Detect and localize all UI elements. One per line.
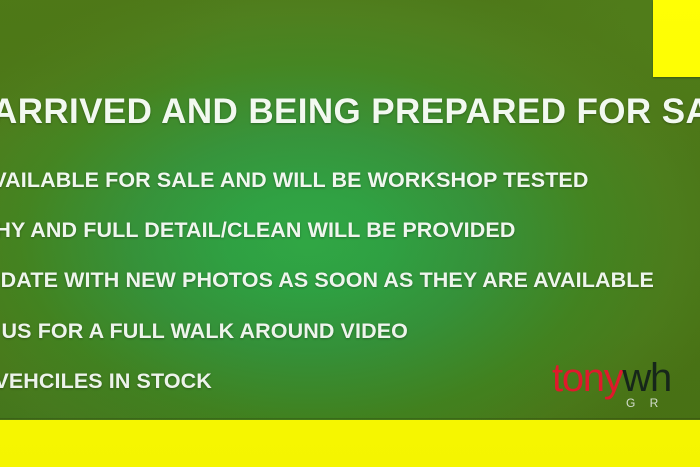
line-walk-around-video: ASE ASK US FOR A FULL WALK AROUND VIDEO (0, 319, 408, 344)
logo-wordmark: tonywh (552, 356, 671, 400)
logo-wordmark-tony: tony (552, 356, 622, 400)
line-new-photos: WILL UPDATE WITH NEW PHOTOS AS SOON AS T… (0, 268, 654, 293)
placeholder-slide: UST ARRIVED AND BEING PREPARED FOR SA S … (0, 0, 700, 467)
line-stock-count: ER 150 VEHCILES IN STOCK (0, 369, 212, 394)
tony-white-group-logo: tonywh G R (552, 356, 700, 418)
headline-just-arrived: UST ARRIVED AND BEING PREPARED FOR SA (0, 92, 700, 132)
logo-tagline-group: G R (626, 396, 664, 410)
line-available-for-sale: S IS AVAILABLE FOR SALE AND WILL BE WORK… (0, 168, 589, 193)
logo-wordmark-white: wh (622, 356, 671, 400)
line-roadworthy-detail: ADWORTHY AND FULL DETAIL/CLEAN WILL BE P… (0, 218, 515, 243)
yellow-footer-band (0, 420, 700, 467)
